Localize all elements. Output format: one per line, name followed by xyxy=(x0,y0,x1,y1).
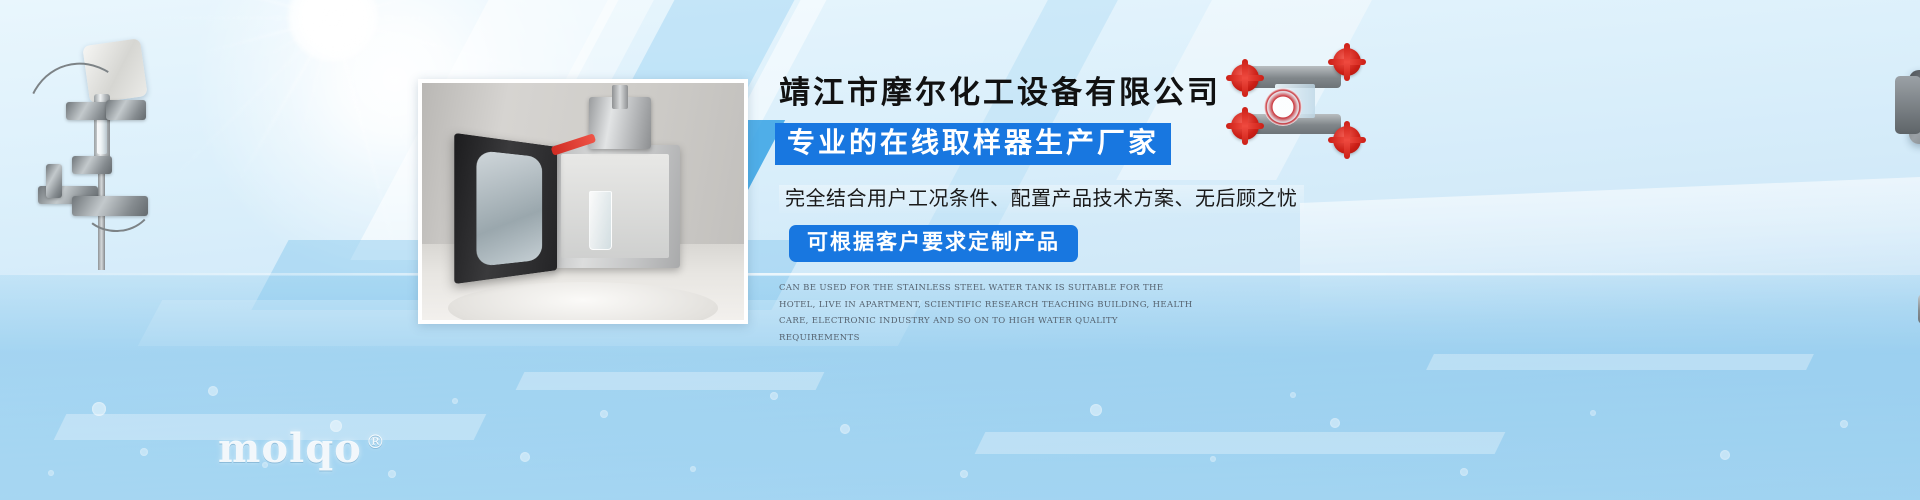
water-streak xyxy=(1426,354,1814,370)
center-product-photo xyxy=(418,79,748,324)
water-droplet xyxy=(1330,418,1340,428)
cabinet-door xyxy=(454,133,557,284)
promo-banner: 靖江市摩尔化工设备有限公司 专业的在线取样器生产厂家 完全结合用户工况条件、配置… xyxy=(0,0,1920,500)
water-droplet xyxy=(48,470,54,476)
water-droplet xyxy=(1460,468,1468,476)
red-handwheel-icon xyxy=(1333,48,1361,76)
water-droplet xyxy=(600,410,608,418)
water-droplet xyxy=(92,402,106,416)
tagline-highlight: 专业的在线取样器生产厂家 xyxy=(775,123,1171,165)
water-droplet xyxy=(960,470,968,478)
banner-copy-block: 靖江市摩尔化工设备有限公司 专业的在线取样器生产厂家 完全结合用户工况条件、配置… xyxy=(775,78,1415,346)
water-droplet xyxy=(1210,456,1216,462)
water-droplet xyxy=(452,398,458,404)
water-droplet xyxy=(1290,392,1296,398)
sun-ray xyxy=(333,17,523,19)
sub-headline: 完全结合用户工况条件、配置产品技术方案、无后顾之忧 xyxy=(779,185,1304,213)
sun-ray xyxy=(332,18,334,98)
water-droplet xyxy=(1590,410,1596,416)
sample-bottle xyxy=(589,191,612,250)
sun-ray xyxy=(143,17,333,19)
water-streak xyxy=(516,372,825,390)
right-low-product-image xyxy=(1900,250,1920,420)
water-droplet xyxy=(690,466,696,472)
door-window xyxy=(476,150,542,266)
left-product-image xyxy=(10,20,190,280)
watermark-text: molqo xyxy=(218,425,362,472)
water-droplet xyxy=(388,470,396,478)
custom-product-pill: 可根据客户要求定制产品 xyxy=(789,225,1078,262)
registered-mark-icon: ® xyxy=(366,431,386,453)
brand-watermark: molqo® xyxy=(218,425,386,472)
right-mid-product-image xyxy=(1895,30,1920,200)
photo-content xyxy=(422,83,744,320)
water-droplet xyxy=(1840,420,1848,428)
water-droplet xyxy=(208,386,218,396)
water-droplet xyxy=(520,452,530,462)
water-streak xyxy=(975,432,1506,454)
valve-flange xyxy=(1895,76,1920,134)
water-droplet xyxy=(1720,450,1730,460)
sampler-cabinet xyxy=(551,145,680,268)
valve-stem xyxy=(612,85,628,109)
english-description: Can be used for the stainless steel wate… xyxy=(779,280,1199,346)
water-droplet xyxy=(140,448,148,456)
sun-ray xyxy=(333,17,570,82)
water-droplet xyxy=(840,424,850,434)
water-droplet xyxy=(1090,404,1102,416)
water-droplet xyxy=(770,392,778,400)
sun-ray xyxy=(332,18,397,255)
company-name: 靖江市摩尔化工设备有限公司 xyxy=(779,78,1415,109)
cabinet-interior xyxy=(561,154,669,258)
